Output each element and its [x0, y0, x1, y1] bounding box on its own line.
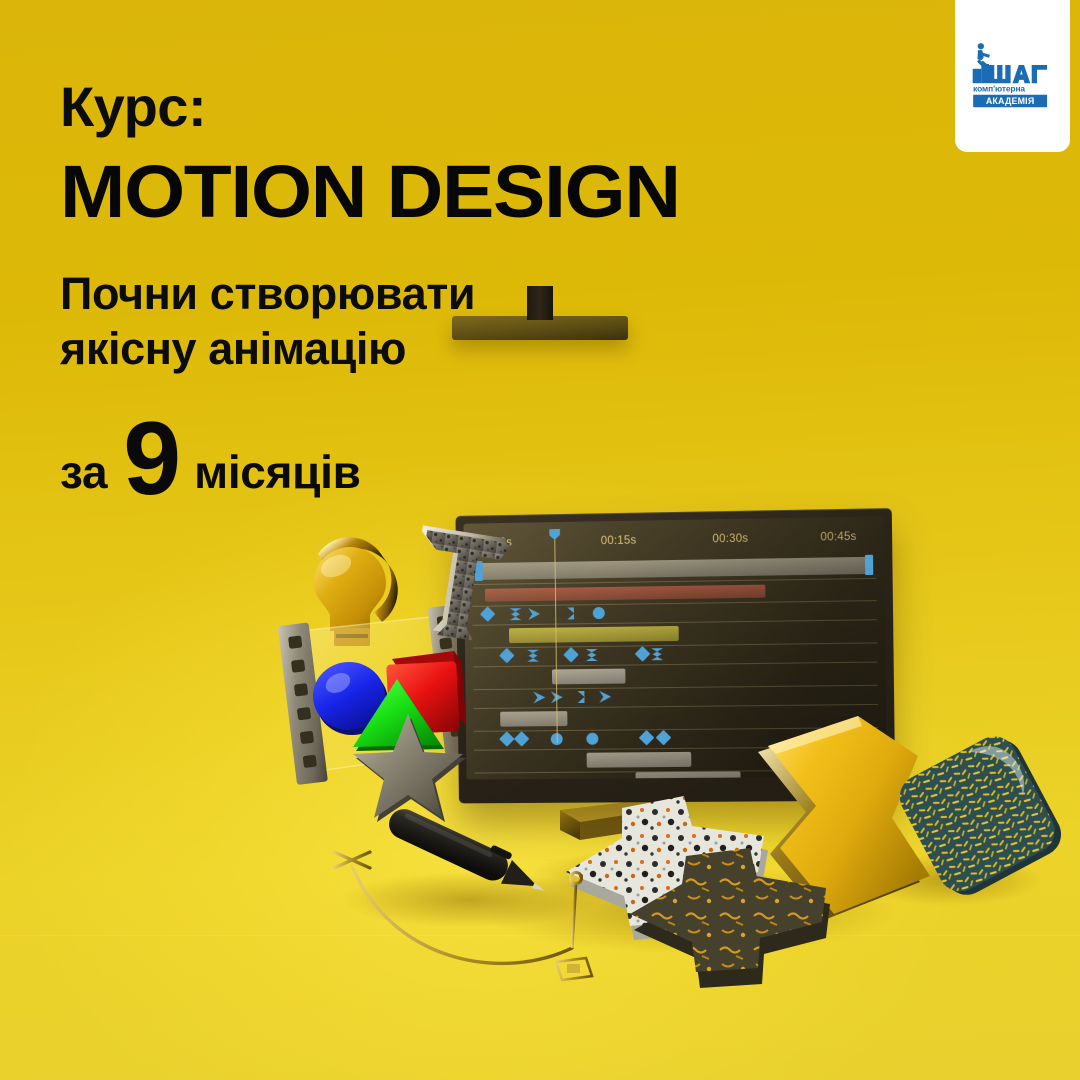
keyframe-diamond-icon[interactable] — [635, 646, 650, 662]
dark-speckled-cross-object — [614, 840, 904, 1030]
keyframe-bowtie-icon[interactable] — [527, 650, 539, 662]
timeline-clip[interactable] — [587, 752, 692, 768]
timeline-clip[interactable] — [552, 669, 625, 685]
keyframe-bowtie-icon[interactable] — [651, 648, 663, 660]
teal-speckled-cube-object — [900, 728, 1080, 918]
keyframe-ease-l-icon[interactable] — [562, 607, 574, 619]
keyframe-diamond-icon[interactable] — [563, 647, 578, 662]
duration-number: 9 — [123, 419, 178, 500]
keyframe-ease-r-icon[interactable] — [599, 691, 611, 703]
keyframe-diamond-icon[interactable] — [639, 730, 654, 746]
timeline-row-divider — [473, 619, 877, 626]
poster-canvas: Курс: MOTION DESIGN Почни створювати які… — [0, 0, 1080, 1080]
shag-academy-logo-svg: комп'ютерна АКАДЕМІЯ — [965, 40, 1061, 112]
brand-logo: комп'ютерна АКАДЕМІЯ — [965, 40, 1061, 112]
keyframe-ease-r-icon[interactable] — [528, 608, 540, 620]
logo-line-two-text: комп'ютерна — [973, 83, 1025, 93]
timeline-tick-3: 00:45s — [820, 531, 856, 544]
brand-logo-card[interactable]: комп'ютерна АКАДЕМІЯ — [955, 0, 1070, 152]
timeline-clip[interactable] — [509, 626, 678, 643]
keyframe-ease-r-icon[interactable] — [533, 691, 545, 703]
timeline-tick-2: 00:30s — [712, 533, 748, 546]
subline-line-2: якісну анімацію — [60, 322, 645, 377]
keyframe-bowtie-icon[interactable] — [586, 649, 598, 661]
workarea-end-handle[interactable] — [865, 555, 873, 575]
course-kicker: Курс: — [60, 78, 645, 135]
keyframe-circle-icon[interactable] — [593, 607, 605, 619]
timeline-clip[interactable] — [478, 557, 869, 580]
logo-line-three-text: АКАДЕМІЯ — [985, 96, 1034, 106]
keyframe-diamond-icon[interactable] — [656, 730, 672, 746]
duration-unit: місяців — [194, 445, 360, 499]
stylus-pen-object — [368, 795, 568, 925]
timeline-row-divider — [473, 642, 877, 648]
timeline-row-divider — [473, 685, 877, 690]
keyframe-diamond-icon[interactable] — [514, 731, 529, 746]
letter-t-sculpture-object — [398, 522, 528, 672]
keyframe-ease-l-icon[interactable] — [572, 691, 584, 703]
subline-line-1: Почни створювати — [60, 267, 645, 322]
copy-block: Курс: MOTION DESIGN Почни створювати які… — [60, 78, 645, 499]
keyframe-circle-icon[interactable] — [587, 733, 599, 745]
timeline-row-divider — [472, 600, 876, 607]
timeline-tick-1: 00:15s — [601, 535, 637, 548]
course-duration: за 9 місяців — [60, 413, 645, 499]
course-subline: Почни створювати якісну анімацію — [60, 267, 645, 377]
timeline-row-divider — [473, 662, 877, 668]
duration-prefix: за — [60, 445, 107, 499]
course-headline: MOTION DESIGN — [60, 155, 680, 229]
